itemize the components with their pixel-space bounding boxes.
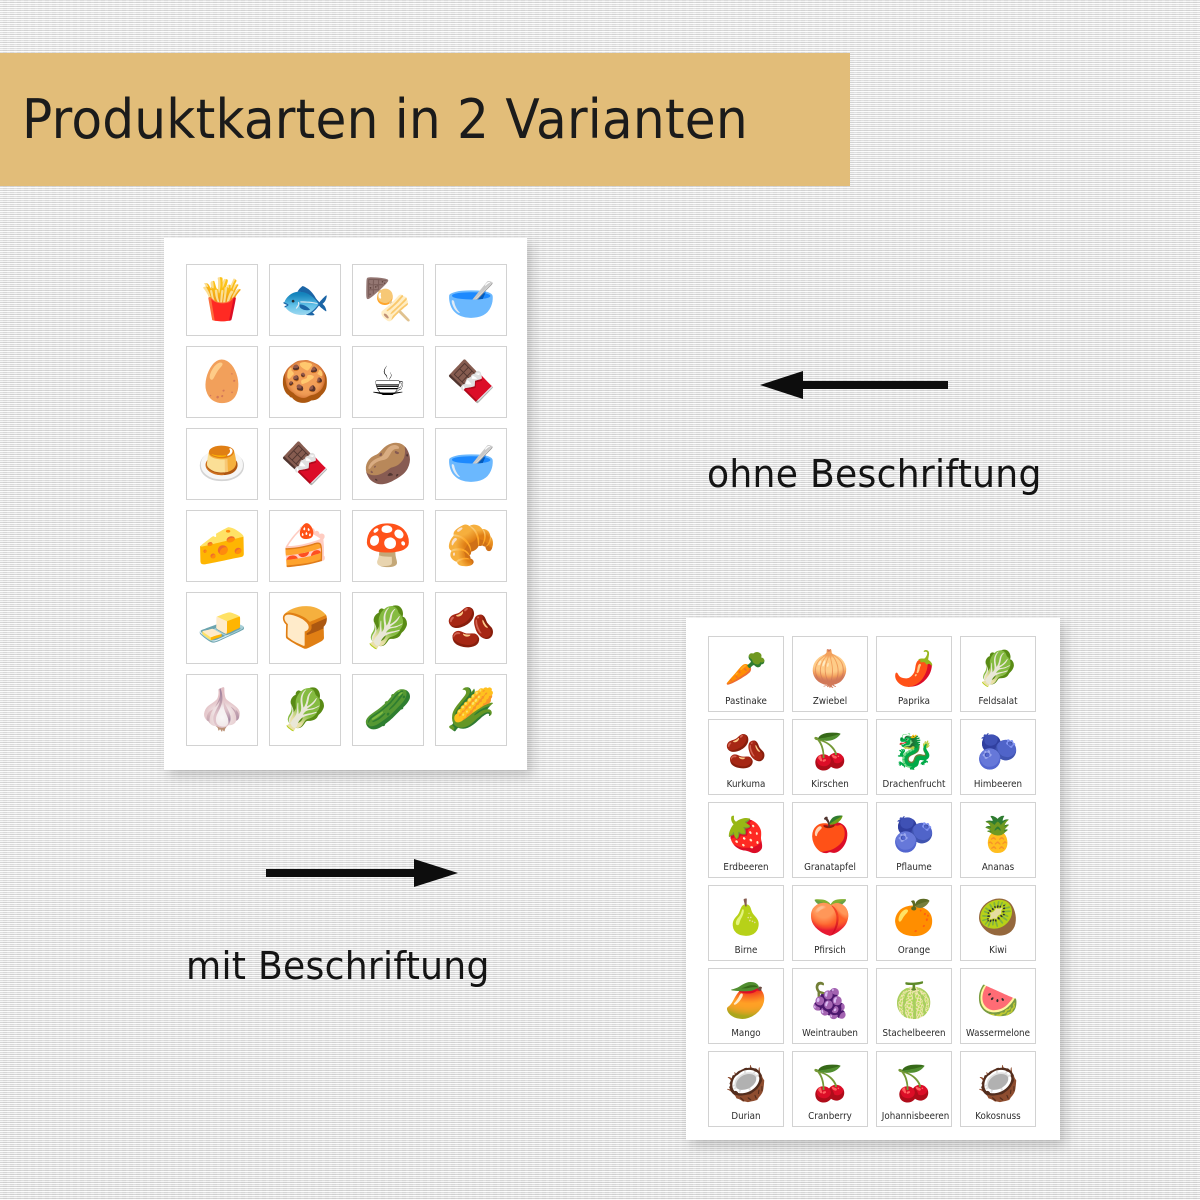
cheese-wedge-icon: 🧀	[197, 526, 247, 566]
product-card-cell[interactable]: 🍢	[352, 264, 424, 336]
product-card-cell[interactable]: 🥥Kokosnuss	[960, 1051, 1036, 1127]
product-card-cell[interactable]: 🥐	[435, 510, 507, 582]
peach-icon: 🍑	[809, 891, 851, 946]
product-card-cell[interactable]: 🧅Zwiebel	[792, 636, 868, 712]
product-card-cell[interactable]: 🌽	[435, 674, 507, 746]
product-card-label: Wassermelone	[966, 1029, 1030, 1039]
bread-roll-icon: 🥐	[446, 526, 496, 566]
chocolate-cereal-bowl-icon: 🥣	[446, 444, 496, 484]
product-card-cell[interactable]: 🥔	[352, 428, 424, 500]
product-card-cell[interactable]: 🥬Feldsalat	[960, 636, 1036, 712]
product-card-sheet-labeled: 🥕Pastinake🧅Zwiebel🌶️Paprika🥬Feldsalat🫘Ku…	[686, 618, 1060, 1140]
product-card-cell[interactable]: 🍍Ananas	[960, 802, 1036, 878]
product-card-cell[interactable]: 🍄	[352, 510, 424, 582]
fish-fillet-icon: 🐟	[280, 280, 330, 320]
kiwi-icon: 🥝	[977, 891, 1019, 946]
product-card-cell[interactable]: 🍮	[186, 428, 258, 500]
plums-icon: 🫐	[893, 808, 935, 863]
ginger-icon: 🫘	[446, 608, 496, 648]
product-card-cell[interactable]: 🍈Stachelbeeren	[876, 968, 952, 1044]
product-card-cell[interactable]: 🥣	[435, 428, 507, 500]
annotation-label-ohne: ohne Beschriftung	[707, 452, 1042, 496]
product-card-label: Mango	[714, 1029, 778, 1039]
product-card-label: Erdbeeren	[714, 863, 778, 873]
product-card-cell[interactable]: 🥬	[352, 592, 424, 664]
cranberries-icon: 🍒	[809, 1057, 851, 1112]
lambs-lettuce-icon: 🥬	[977, 642, 1019, 697]
onion-icon: 🧅	[809, 642, 851, 697]
garlic-icon: 🧄	[197, 690, 247, 730]
product-card-label: Pfirsich	[798, 946, 862, 956]
pineapple-icon: 🍍	[977, 808, 1019, 863]
product-card-cell[interactable]: 🍑Pfirsich	[792, 885, 868, 961]
product-card-cell[interactable]: 🥣	[435, 264, 507, 336]
layer-cake-icon: 🍰	[280, 526, 330, 566]
product-card-label: Zwiebel	[798, 697, 862, 707]
product-card-cell[interactable]: 🍫	[435, 346, 507, 418]
product-card-cell[interactable]: 🥥Durian	[708, 1051, 784, 1127]
gooseberries-icon: 🍈	[893, 974, 935, 1029]
chocolate-chunks-icon: 🍫	[280, 444, 330, 484]
raspberries-icon: 🫐	[977, 725, 1019, 780]
product-card-label: Pflaume	[882, 863, 946, 873]
grapes-icon: 🍇	[809, 974, 851, 1029]
arrow-left-icon	[755, 370, 955, 400]
product-card-label: Granatapfel	[798, 863, 862, 873]
poster-canvas: Produktkarten in 2 Varianten 🍟🐟🍢🥣🥚🍪☕🍫🍮🍫🥔…	[0, 0, 1200, 1200]
orange-icon: 🍊	[893, 891, 935, 946]
turmeric-icon: 🫘	[725, 725, 767, 780]
dragonfruit-icon: 🐉	[893, 725, 935, 780]
product-card-cell[interactable]: 🍉Wassermelone	[960, 968, 1036, 1044]
product-card-label: Pastinake	[714, 697, 778, 707]
product-card-label: Weintrauben	[798, 1029, 862, 1039]
product-card-cell[interactable]: 🐟	[269, 264, 341, 336]
mushrooms-icon: 🍄	[363, 526, 413, 566]
product-card-label: Stachelbeeren	[882, 1029, 946, 1039]
bread-loaf-icon: 🍞	[280, 608, 330, 648]
product-card-cell[interactable]: 🧄	[186, 674, 258, 746]
product-card-label: Drachenfrucht	[882, 780, 946, 790]
product-card-label: Birne	[714, 946, 778, 956]
title-banner: Produktkarten in 2 Varianten	[0, 53, 850, 186]
product-card-label: Himbeeren	[966, 780, 1030, 790]
potato-chips-icon: 🥔	[363, 444, 413, 484]
product-card-cell[interactable]: 🧈	[186, 592, 258, 664]
cocoa-powder-icon: 🍫	[446, 362, 496, 402]
coffee-beans-icon: ☕	[370, 362, 406, 402]
product-card-cell[interactable]: 🥚	[186, 346, 258, 418]
product-card-cell[interactable]: 🍎Granatapfel	[792, 802, 868, 878]
product-card-cell[interactable]: 🍞	[269, 592, 341, 664]
cucumber-icon: 🥒	[363, 690, 413, 730]
cherries-icon: 🍒	[809, 725, 851, 780]
product-card-sheet-plain: 🍟🐟🍢🥣🥚🍪☕🍫🍮🍫🥔🥣🧀🍰🍄🥐🧈🍞🥬🫘🧄🥬🥒🌽	[164, 238, 527, 770]
product-card-cell[interactable]: 🍒Cranberry	[792, 1051, 868, 1127]
pear-icon: 🍐	[725, 891, 767, 946]
product-card-label: Kirschen	[798, 780, 862, 790]
product-card-cell[interactable]: 🍊Orange	[876, 885, 952, 961]
product-card-cell[interactable]: 🧀	[186, 510, 258, 582]
cheese-puffs-bowl-icon: 🥣	[446, 280, 496, 320]
product-card-cell[interactable]: 🍒Kirschen	[792, 719, 868, 795]
fennel-icon: 🥬	[280, 690, 330, 730]
pudding-icon: 🍮	[197, 444, 247, 484]
product-card-cell[interactable]: 🫘	[435, 592, 507, 664]
strawberry-icon: 🍓	[725, 808, 767, 863]
redcurrants-icon: 🍒	[893, 1057, 935, 1112]
product-card-cell[interactable]: 🍟	[186, 264, 258, 336]
product-card-cell[interactable]: 🥕Pastinake	[708, 636, 784, 712]
product-card-cell[interactable]: 🍐Birne	[708, 885, 784, 961]
product-card-label: Kiwi	[966, 946, 1030, 956]
product-card-cell[interactable]: 🍒Johannisbeeren	[876, 1051, 952, 1127]
product-card-label: Kokosnuss	[966, 1112, 1030, 1122]
product-grid-labeled: 🥕Pastinake🧅Zwiebel🌶️Paprika🥬Feldsalat🫘Ku…	[708, 636, 1038, 1127]
arrow-right-icon	[262, 858, 462, 888]
parsnip-icon: 🥕	[725, 642, 767, 697]
product-card-cell[interactable]: 🍪	[269, 346, 341, 418]
product-card-cell[interactable]: 🫐Pflaume	[876, 802, 952, 878]
product-card-label: Orange	[882, 946, 946, 956]
product-card-cell[interactable]: 🍫	[269, 428, 341, 500]
product-card-cell[interactable]: 🫐Himbeeren	[960, 719, 1036, 795]
annotation-label-mit: mit Beschriftung	[186, 944, 490, 988]
product-card-cell[interactable]: 🥒	[352, 674, 424, 746]
product-card-label: Ananas	[966, 863, 1030, 873]
product-card-cell[interactable]: 🍇Weintrauben	[792, 968, 868, 1044]
product-card-cell[interactable]: 🌶️Paprika	[876, 636, 952, 712]
product-card-label: Kurkuma	[714, 780, 778, 790]
durian-icon: 🥥	[725, 1057, 767, 1112]
butter-icon: 🧈	[197, 608, 247, 648]
product-card-label: Cranberry	[798, 1112, 862, 1122]
fish-sticks-icon: 🍢	[363, 280, 413, 320]
product-card-cell[interactable]: 🍓Erdbeeren	[708, 802, 784, 878]
salsify-roots-icon: 🥬	[363, 608, 413, 648]
product-card-cell[interactable]: 🥝Kiwi	[960, 885, 1036, 961]
product-card-label: Feldsalat	[966, 697, 1030, 707]
corn-icon: 🌽	[446, 690, 496, 730]
product-card-label: Johannisbeeren	[882, 1112, 946, 1122]
product-card-label: Paprika	[882, 697, 946, 707]
product-card-cell[interactable]: 🫘Kurkuma	[708, 719, 784, 795]
product-card-cell[interactable]: 🍰	[269, 510, 341, 582]
product-card-cell[interactable]: 🥬	[269, 674, 341, 746]
french-fries-icon: 🍟	[197, 280, 247, 320]
page-title: Produktkarten in 2 Varianten	[22, 93, 748, 147]
coconut-icon: 🥥	[977, 1057, 1019, 1112]
product-card-cell[interactable]: 🐉Drachenfrucht	[876, 719, 952, 795]
mango-icon: 🥭	[725, 974, 767, 1029]
product-grid-plain: 🍟🐟🍢🥣🥚🍪☕🍫🍮🍫🥔🥣🧀🍰🍄🥐🧈🍞🥬🫘🧄🥬🥒🌽	[186, 264, 506, 746]
product-card-cell[interactable]: 🥭Mango	[708, 968, 784, 1044]
cookies-icon: 🍪	[280, 362, 330, 402]
product-card-cell[interactable]: ☕	[352, 346, 424, 418]
product-card-label: Durian	[714, 1112, 778, 1122]
eggs-icon: 🥚	[197, 362, 247, 402]
pomegranate-icon: 🍎	[809, 808, 851, 863]
watermelon-icon: 🍉	[977, 974, 1019, 1029]
chili-pepper-icon: 🌶️	[893, 642, 935, 697]
